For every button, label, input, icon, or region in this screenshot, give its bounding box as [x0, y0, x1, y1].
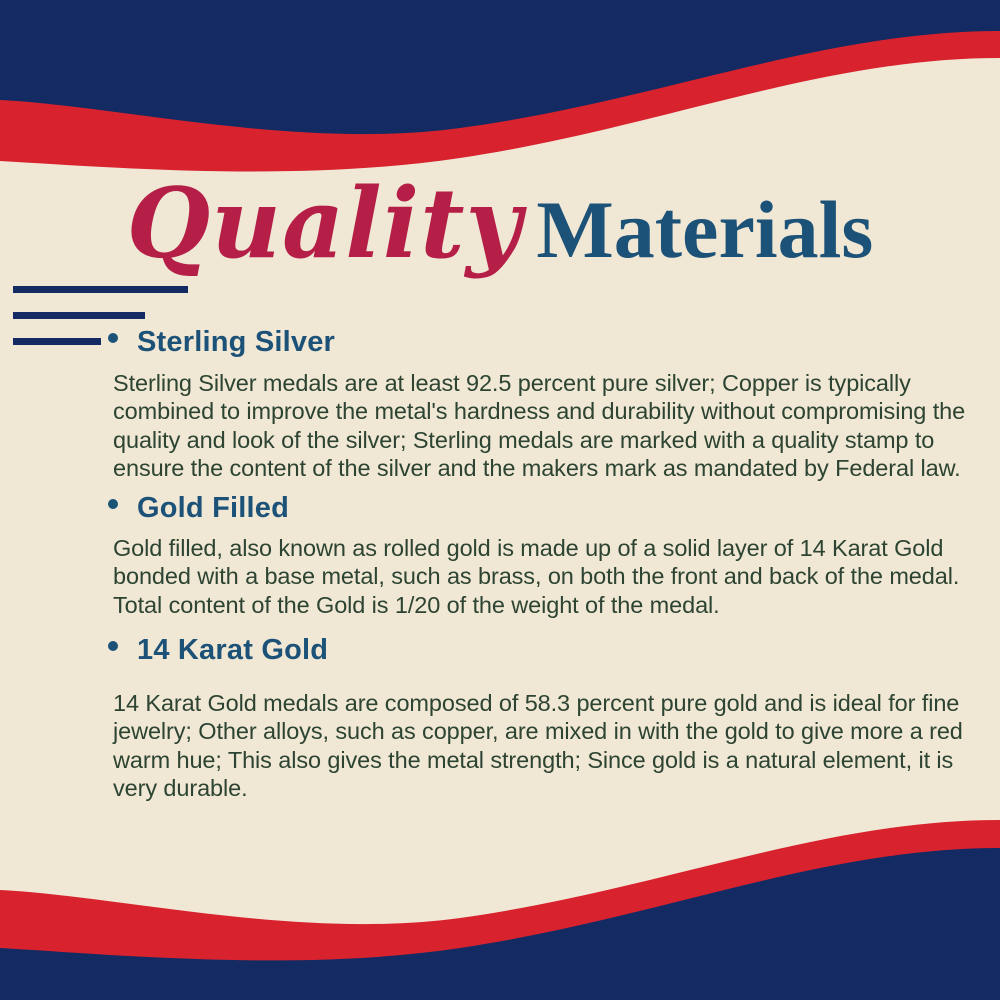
bottom-wave-red-band [0, 820, 1000, 1000]
page-title: QualityMaterials [0, 176, 1000, 272]
bullet-icon [108, 499, 118, 509]
section-heading-sterling-silver: Sterling Silver [0, 325, 1000, 360]
section-body-sterling-silver: Sterling Silver medals are at least 92.5… [0, 369, 1000, 483]
title-word-materials: Materials [536, 184, 873, 275]
decorative-rule-2 [13, 312, 145, 319]
section-heading-label: 14 Karat Gold [137, 633, 328, 668]
section-gold-filled: Gold Filled Gold filled, also known as r… [0, 491, 1000, 619]
title-word-quality: Quality [127, 167, 523, 280]
section-heading-14-karat-gold: 14 Karat Gold [0, 633, 1000, 668]
section-body-gold-filled: Gold filled, also known as rolled gold i… [0, 534, 1000, 620]
section-heading-label: Gold Filled [137, 491, 289, 526]
section-heading-label: Sterling Silver [137, 325, 335, 360]
poster-canvas: QualityMaterials Sterling Silver Sterlin… [0, 0, 1000, 1000]
bottom-wave-navy-band [0, 848, 1000, 1000]
top-wave-navy-band [0, 0, 1000, 134]
bullet-icon [108, 641, 118, 651]
section-14-karat-gold: 14 Karat Gold 14 Karat Gold medals are c… [0, 633, 1000, 803]
section-body-14-karat-gold: 14 Karat Gold medals are composed of 58.… [0, 689, 1000, 803]
section-heading-gold-filled: Gold Filled [0, 491, 1000, 526]
top-wave-red-band [0, 0, 1000, 171]
bullet-icon [108, 333, 118, 343]
decorative-rule-1 [13, 286, 188, 293]
bottom-wave-decoration [0, 800, 1000, 1000]
materials-list: Sterling Silver Sterling Silver medals a… [0, 325, 1000, 803]
section-sterling-silver: Sterling Silver Sterling Silver medals a… [0, 325, 1000, 483]
